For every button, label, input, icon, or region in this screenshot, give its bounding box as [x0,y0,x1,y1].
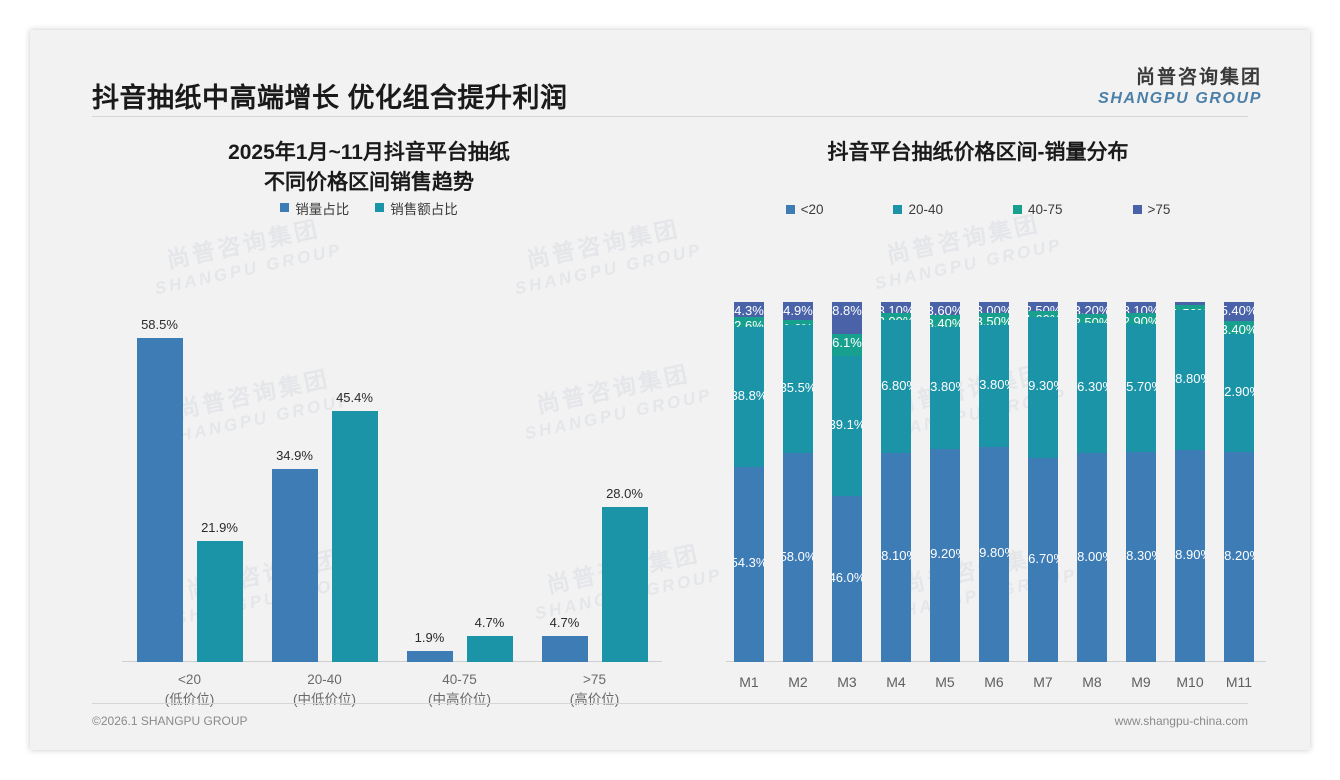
category-sublabel: (中高价位) [392,690,527,710]
bar-volume[interactable]: 1.9% [407,302,453,662]
grouped-bar-plot-area: 58.5%21.9%<20(低价位)34.9%45.4%20-40(中低价位)1… [122,302,662,662]
legend-swatch-icon [786,205,795,214]
chart-panel-stacked-bar: 抖音平台抽纸价格区间-销量分布 <2020-4040-75>75 4.3%2.6… [678,122,1278,702]
segment-value-label: 3.50% [979,314,1009,326]
segment-value-label: 3.10% [881,303,911,313]
bar-value-label: 58.5% [141,317,178,332]
bar-group: 34.9%45.4% [257,302,392,662]
segment-value-label: 3.60% [930,303,960,315]
legend-item-volume[interactable]: 销量占比 [280,198,349,218]
stack-segment-<20[interactable]: 58.10% [881,453,911,662]
bar-rect[interactable] [332,411,378,662]
x-axis-month-label: M11 [1224,674,1254,690]
stacked-bar-column[interactable]: 2.50%1.60%39.30%56.70% [1028,302,1058,662]
chart-panel-grouped-bar: 2025年1月~11月抖音平台抽纸 不同价格区间销售趋势 销量占比销售额占比 5… [64,122,674,702]
category-name: 20-40 [257,670,392,690]
bar-rect[interactable] [197,541,243,662]
legend-item-gt75[interactable]: >75 [1133,202,1171,217]
chart-legend-right: <2020-4040-75>75 [678,202,1278,217]
stack-segment-20-40[interactable]: 39.1% [832,356,862,497]
legend-label: 销售额占比 [390,198,458,218]
stack-segment-20-40[interactable]: 33.80% [979,325,1009,447]
legend-swatch-icon [375,203,384,212]
chart-legend-left: 销量占比销售额占比 [64,198,674,218]
bar-rect[interactable] [407,651,453,662]
segment-value-label: 56.70% [1028,551,1058,566]
segment-value-label: 58.90% [1175,547,1205,562]
category-sublabel: (中低价位) [257,690,392,710]
legend-label: <20 [801,202,824,217]
x-axis-month-label: M9 [1126,674,1156,690]
bar-rect[interactable] [602,507,648,662]
logo-text-cn: 尚普咨询集团 [1098,62,1262,89]
stack-segment->75[interactable]: 3.60% [930,302,960,315]
bar-amount[interactable]: 45.4% [332,302,378,662]
bar-rect[interactable] [542,636,588,662]
segment-value-label: 2.90% [1126,314,1156,323]
stack-segment-<20[interactable]: 58.00% [1077,453,1107,662]
legend-label: >75 [1148,202,1171,217]
bar-value-label: 45.4% [336,390,373,405]
category-name: >75 [527,670,662,690]
segment-value-label: 38.8% [734,388,764,403]
footer-copyright: ©2026.1 SHANGPU GROUP [92,714,248,728]
chart-title-right-line1: 抖音平台抽纸价格区间-销量分布 [678,138,1278,168]
stack-segment->75[interactable]: 4.9% [783,302,813,320]
bar-value-label: 28.0% [606,486,643,501]
legend-label: 销量占比 [295,198,349,218]
legend-swatch-icon [280,203,289,212]
stacked-bar-column[interactable]: 8.8%6.1%39.1%46.0% [832,302,862,662]
category-name: 40-75 [392,670,527,690]
stack-segment->75[interactable]: 8.8% [832,302,862,334]
legend-label: 20-40 [908,202,943,217]
slide-header: 抖音抽纸中高端增长 优化组合提升利润 尚普咨询集团 SHANGPU GROUP [30,30,1310,116]
stack-segment-20-40[interactable]: 32.90% [1224,334,1254,452]
segment-value-label: 35.70% [1126,379,1156,394]
page-title: 抖音抽纸中高端增长 优化组合提升利润 [92,76,568,115]
bar-value-label: 21.9% [201,520,238,535]
footer-divider [92,703,1248,704]
segment-value-label: 39.1% [832,417,862,432]
x-axis-month-label: M2 [783,674,813,690]
stack-segment-40-75[interactable]: 3.40% [930,315,960,327]
stack-segment-<20[interactable]: 58.20% [1224,452,1254,662]
segment-value-label: 2.6% [734,318,764,326]
chart-title-left-line2: 不同价格区间销售趋势 [64,168,674,198]
stack-segment-<20[interactable]: 54.3% [734,467,764,662]
stack-segment-20-40[interactable]: 38.80% [1175,310,1205,450]
stack-segment->75[interactable]: 3.20% [1077,302,1107,314]
category-sublabel: (低价位) [122,690,257,710]
segment-value-label: 54.3% [734,555,764,570]
segment-value-label: 3.40% [1224,322,1254,333]
bar-value-label: 1.9% [415,630,445,645]
stack-segment-<20[interactable]: 59.20% [930,449,960,662]
stacked-bar-column[interactable]: 3.10%2.00%36.80%58.10% [881,302,911,662]
segment-value-label: 2.50% [1077,315,1107,323]
stacked-bar-column[interactable]: 4.9%1.6%35.5%58.0% [783,302,813,662]
stack-segment-20-40[interactable]: 36.30% [1077,323,1107,454]
logo-text-en: SHANGPU GROUP [1098,90,1262,108]
bar-volume[interactable]: 34.9% [272,302,318,662]
segment-value-label: 2.50% [1028,303,1058,311]
bar-amount[interactable]: 28.0% [602,302,648,662]
segment-value-label: 3.10% [1126,303,1156,313]
stack-segment-20-40[interactable]: 35.5% [783,325,813,453]
stack-segment-<20[interactable]: 58.90% [1175,450,1205,662]
chart-title-right: 抖音平台抽纸价格区间-销量分布 [678,138,1278,168]
x-axis-month-label: M1 [734,674,764,690]
stack-segment-<20[interactable]: 58.0% [783,453,813,662]
segment-value-label: 58.20% [1224,548,1254,563]
segment-value-label: 32.90% [1224,384,1254,399]
segment-value-label: 3.00% [979,303,1009,313]
stacked-bar-column[interactable]: 0.80%1.50%38.80%58.90% [1175,302,1205,662]
bar-volume[interactable]: 4.7% [542,302,588,662]
segment-value-label: 33.80% [979,377,1009,392]
stacked-bar-column[interactable]: 3.20%2.50%36.30%58.00% [1077,302,1107,662]
segment-value-label: 36.80% [881,378,911,393]
segment-value-label: 35.5% [783,380,813,395]
bar-rect[interactable] [467,636,513,662]
bar-rect[interactable] [272,469,318,662]
stack-segment->75[interactable]: 3.00% [979,302,1009,313]
segment-value-label: 33.80% [930,379,960,394]
x-axis-month-label: M8 [1077,674,1107,690]
footer-website: www.shangpu-china.com [1115,714,1248,728]
x-axis-month-label: M6 [979,674,1009,690]
stack-segment-20-40[interactable]: 35.70% [1126,324,1156,453]
legend-swatch-icon [1013,205,1022,214]
segment-value-label: 58.00% [1077,549,1107,564]
legend-item-amount[interactable]: 销售额占比 [375,198,458,218]
stack-segment-<20[interactable]: 56.70% [1028,458,1058,662]
segment-value-label: 3.40% [930,316,960,327]
stack-segment-40-75[interactable]: 2.90% [1126,313,1156,323]
stack-segment-40-75[interactable]: 2.00% [881,313,911,320]
legend-label: 40-75 [1028,202,1063,217]
segment-value-label: 38.80% [1175,371,1205,386]
segment-value-label: 58.10% [881,548,911,563]
header-divider [92,116,1248,117]
legend-item-20-40[interactable]: 20-40 [893,202,943,217]
bar-value-label: 34.9% [276,448,313,463]
x-axis-month-label: M10 [1175,674,1205,690]
bar-group: 58.5%21.9% [122,302,257,662]
slide-canvas: 尚普咨询集团 SHANGPU GROUP 尚普咨询集团 SHANGPU GROU… [30,30,1310,750]
stack-segment-40-75[interactable]: 6.1% [832,334,862,356]
stack-segment-40-75[interactable]: 2.6% [734,317,764,326]
stack-segment-<20[interactable]: 59.80% [979,447,1009,662]
stack-segment-40-75[interactable]: 2.50% [1077,314,1107,323]
stack-segment-20-40[interactable]: 38.8% [734,327,764,467]
legend-swatch-icon [1133,205,1142,214]
segment-value-label: 36.30% [1077,379,1107,394]
segment-value-label: 39.30% [1028,378,1058,393]
segment-value-label: 3.20% [1077,303,1107,314]
bar-group: 4.7%28.0% [527,302,662,662]
bar-volume[interactable]: 58.5% [137,302,183,662]
legend-item-lt20[interactable]: <20 [786,202,824,217]
x-axis-month-label: M3 [832,674,862,690]
bar-value-label: 4.7% [550,615,580,630]
stack-segment->75[interactable]: 5.40% [1224,302,1254,321]
bar-amount[interactable]: 21.9% [197,302,243,662]
stacked-bar-column[interactable]: 3.10%2.90%35.70%58.30% [1126,302,1156,662]
segment-value-label: 59.80% [979,545,1009,560]
chart-title-left-line1: 2025年1月~11月抖音平台抽纸 [64,138,674,168]
stacked-bar-column[interactable]: 3.60%3.40%33.80%59.20% [930,302,960,662]
segment-value-label: 46.0% [832,570,862,585]
segment-value-label: 4.3% [734,303,764,317]
stack-segment-20-40[interactable]: 36.80% [881,320,911,452]
category-sublabel: (高价位) [527,690,662,710]
category-name: <20 [122,670,257,690]
stack-segment-<20[interactable]: 58.30% [1126,452,1156,662]
chart-title-left: 2025年1月~11月抖音平台抽纸 不同价格区间销售趋势 [64,138,674,198]
bar-amount[interactable]: 4.7% [467,302,513,662]
segment-value-label: 4.9% [783,303,813,318]
stack-segment->75[interactable]: 4.3% [734,302,764,317]
stack-segment-20-40[interactable]: 33.80% [930,327,960,449]
segment-value-label: 5.40% [1224,303,1254,318]
segment-value-label: 58.30% [1126,548,1156,563]
stack-segment-40-75[interactable]: 3.50% [979,313,1009,326]
stacked-bar-column[interactable]: 4.3%2.6%38.8%54.3% [734,302,764,662]
stacked-bar-column[interactable]: 5.40%3.40%32.90%58.20% [1224,302,1254,662]
bar-value-label: 4.7% [475,615,505,630]
stack-segment-40-75[interactable]: 3.40% [1224,321,1254,333]
legend-item-40-75[interactable]: 40-75 [1013,202,1063,217]
segment-value-label: 6.1% [832,335,862,350]
bar-group: 1.9%4.7% [392,302,527,662]
stack-segment-20-40[interactable]: 39.30% [1028,317,1058,458]
bar-rect[interactable] [137,338,183,662]
stacked-bar-plot-area: 4.3%2.6%38.8%54.3%M14.9%1.6%35.5%58.0%M2… [726,302,1266,662]
stack-segment->75[interactable]: 2.50% [1028,302,1058,311]
stack-segment-<20[interactable]: 46.0% [832,496,862,662]
segment-value-label: 59.20% [930,546,960,561]
company-logo: 尚普咨询集团 SHANGPU GROUP [1098,62,1262,108]
stacked-bar-column[interactable]: 3.00%3.50%33.80%59.80% [979,302,1009,662]
x-axis-month-label: M5 [930,674,960,690]
segment-value-label: 58.0% [783,549,813,564]
x-axis-month-label: M7 [1028,674,1058,690]
stack-segment->75[interactable]: 3.10% [881,302,911,313]
x-axis-month-label: M4 [881,674,911,690]
legend-swatch-icon [893,205,902,214]
stack-segment->75[interactable]: 3.10% [1126,302,1156,313]
segment-value-label: 8.8% [832,303,862,318]
